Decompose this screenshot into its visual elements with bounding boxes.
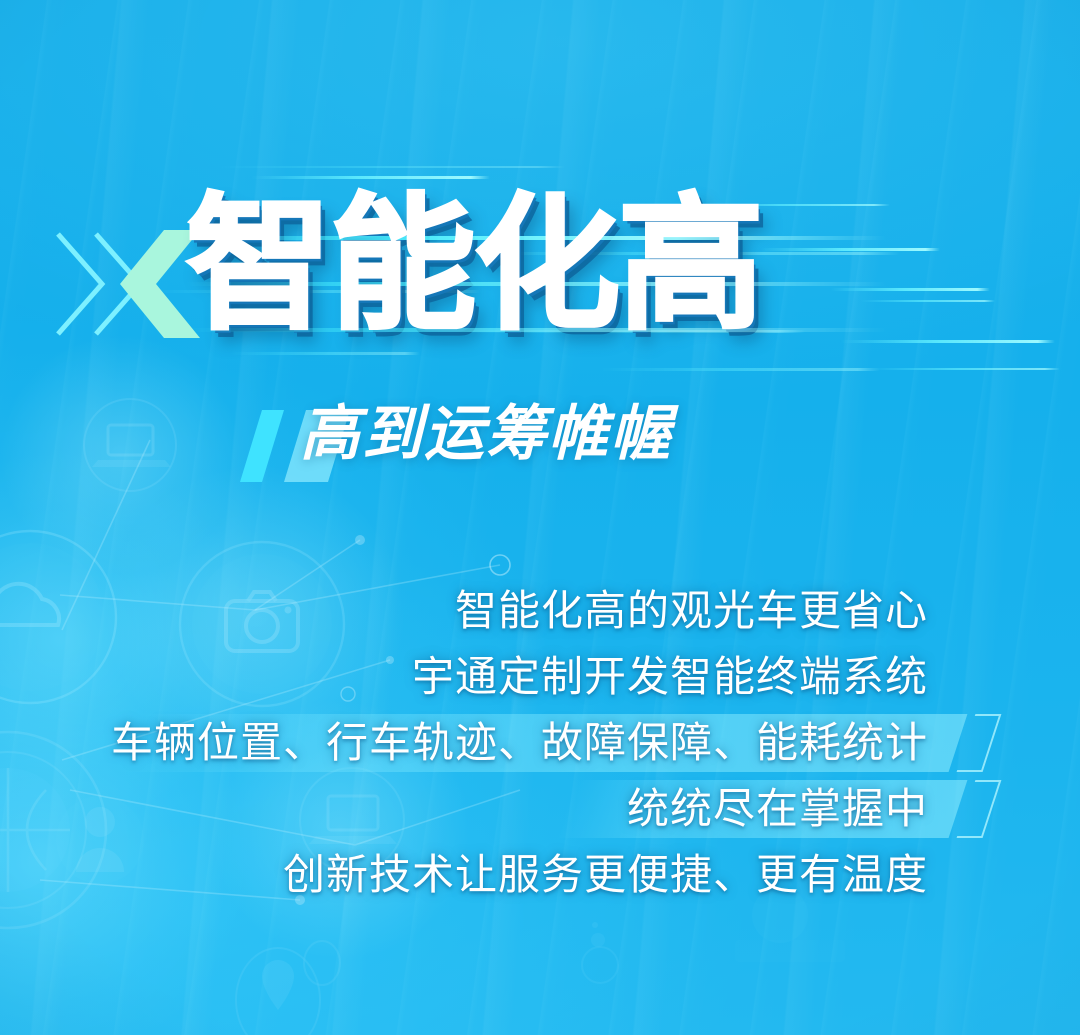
- location-pin-icon: [236, 887, 845, 1035]
- speed-line: [830, 288, 990, 291]
- highlight-band-chevron-edge: [957, 780, 1002, 838]
- speed-line: [860, 300, 995, 302]
- body-line: 智能化高的观光车更省心: [0, 578, 1080, 644]
- speed-line: [230, 352, 420, 355]
- speed-line: [215, 166, 565, 168]
- laptop-icon: [84, 399, 176, 491]
- speed-line: [760, 248, 940, 251]
- poster-root: 智能化高 高到运筹帷幄 智能化高的观光车更省心 宇通定制开发智能终端系统 车辆位…: [0, 0, 1080, 1035]
- body-line-highlighted: 车辆位置、行车轨迹、故障保障、能耗统计: [0, 710, 1080, 776]
- body-line: 宇通定制开发智能终端系统: [0, 644, 1080, 710]
- page-subtitle: 高到运筹帷幄: [300, 396, 672, 471]
- body-line-text: 创新技术让服务更便捷、更有温度: [283, 854, 928, 896]
- speed-line: [840, 340, 1055, 343]
- body-line-text: 智能化高的观光车更省心: [455, 590, 928, 632]
- body-copy: 智能化高的观光车更省心 宇通定制开发智能终端系统 车辆位置、行车轨迹、故障保障、…: [0, 578, 1080, 908]
- body-line-text: 宇通定制开发智能终端系统: [412, 656, 928, 698]
- speed-line: [600, 368, 880, 371]
- page-title: 智能化高: [186, 192, 762, 338]
- body-line-highlighted: 统统尽在掌握中: [0, 776, 1080, 842]
- highlight-band-chevron-edge: [957, 714, 1002, 772]
- body-line: 创新技术让服务更便捷、更有温度: [0, 842, 1080, 908]
- speed-line: [870, 368, 1060, 370]
- body-line-text: 车辆位置、行车轨迹、故障保障、能耗统计: [111, 722, 928, 764]
- body-line-text: 统统尽在掌握中: [627, 788, 928, 830]
- speed-line: [250, 176, 490, 179]
